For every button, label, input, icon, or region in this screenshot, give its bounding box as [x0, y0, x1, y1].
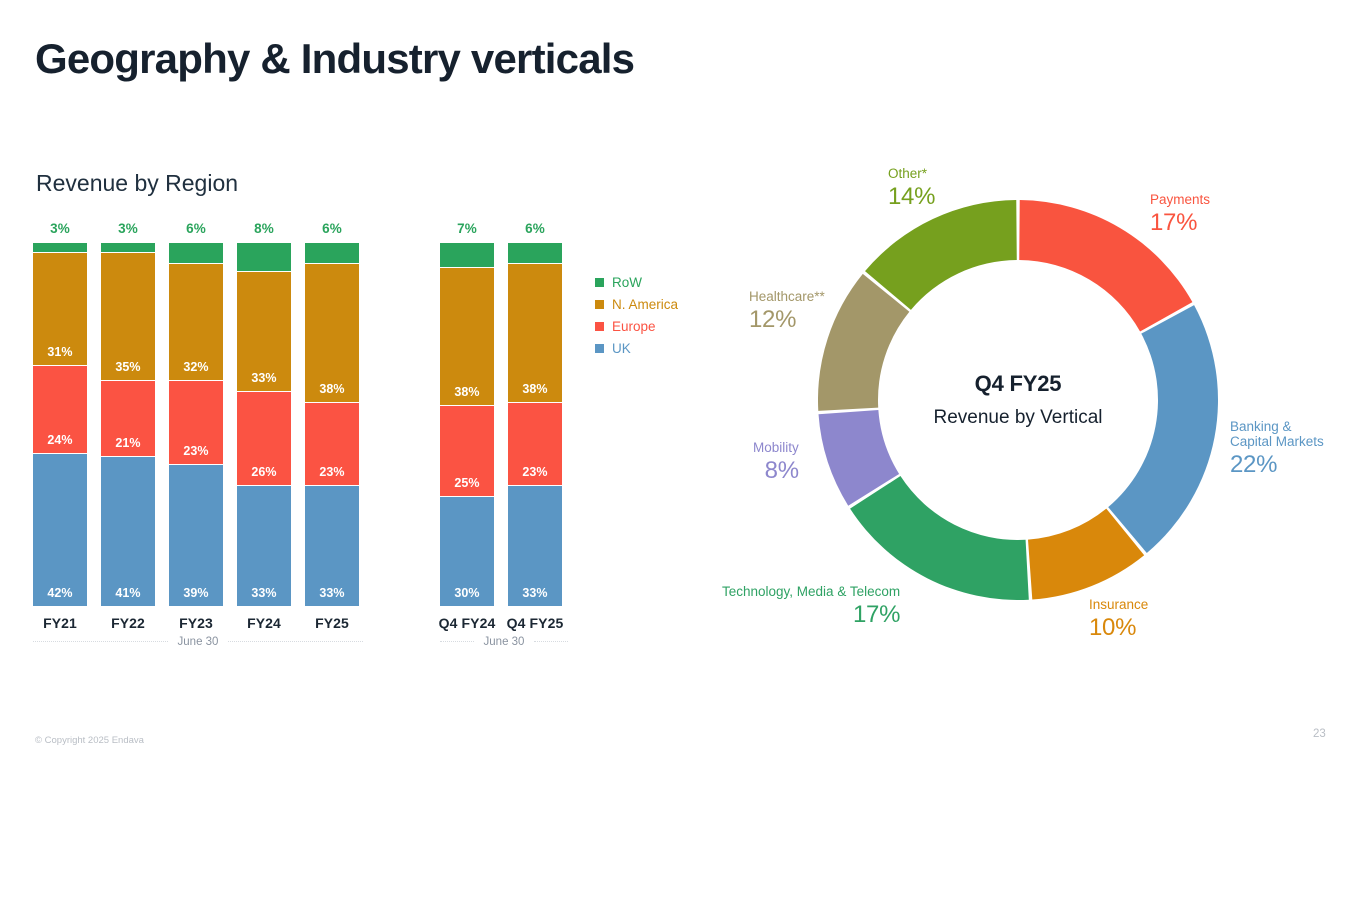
donut-center-title: Q4 FY25 — [888, 371, 1148, 397]
bar-segment-europe: 26% — [237, 392, 291, 487]
bar-segment-row: 6% — [508, 243, 562, 265]
axis-note-quarter: June 30 — [440, 636, 568, 648]
donut-label-insurance: Insurance10% — [1089, 598, 1148, 641]
bar-top-label: 6% — [322, 222, 342, 236]
bar-chart-title: Revenue by Region — [36, 170, 238, 197]
donut-label-name: Payments — [1150, 193, 1210, 208]
bar-group-annual: 3%3%31%24%42%FY213%3%35%21%41%FY226%6%32… — [33, 222, 359, 631]
bar-segment-label: 23% — [319, 465, 344, 485]
donut-slice-technology-media-telecom[interactable] — [850, 476, 1029, 600]
bar-segment-row: 6% — [305, 243, 359, 265]
bar-column: 3%3%35%21%41%FY22 — [101, 222, 155, 631]
bar-top-label: 7% — [457, 222, 477, 236]
legend-swatch-icon — [595, 278, 604, 287]
legend-item-n-america[interactable]: N. America — [595, 293, 678, 315]
donut-label-name-line: Capital Markets — [1230, 435, 1324, 450]
legend-swatch-icon — [595, 344, 604, 353]
bar-segment-row: 3% — [33, 243, 87, 254]
bar-segment-row: 3% — [101, 243, 155, 254]
donut-label-mobility: Mobility8% — [753, 441, 799, 484]
bar-segment-label: 24% — [47, 433, 72, 453]
donut-label-name-line: Banking & — [1230, 420, 1324, 435]
legend-item-europe[interactable]: Europe — [595, 315, 678, 337]
bar-stack: 6%32%23%39% — [169, 243, 223, 607]
bar-x-label: Q4 FY25 — [507, 615, 564, 631]
bar-segment-europe: 21% — [101, 381, 155, 457]
bar-stack: 8%33%26%33% — [237, 243, 291, 607]
bar-segment-europe: 25% — [440, 406, 494, 497]
legend-item-label: UK — [612, 341, 631, 356]
bar-segment-n-america: 38% — [305, 264, 359, 402]
donut-label-other: Other*14% — [888, 167, 935, 210]
bar-segment-label: 38% — [319, 382, 344, 402]
bar-segment-europe: 23% — [508, 403, 562, 487]
donut-label-healthcare: Healthcare**12% — [749, 290, 825, 333]
legend-swatch-icon — [595, 300, 604, 309]
axis-note-annual-label: June 30 — [168, 636, 229, 648]
bar-top-label: 8% — [254, 222, 274, 236]
revenue-by-vertical-chart: Q4 FY25 Revenue by Vertical Payments17%B… — [700, 0, 1365, 768]
donut-label-value: 17% — [1150, 210, 1210, 236]
page-number: 23 — [1313, 728, 1326, 740]
bar-segment-uk: 39% — [169, 465, 223, 607]
dotted-rule-left — [33, 641, 168, 643]
bar-segment-n-america: 35% — [101, 253, 155, 380]
bar-segment-europe: 24% — [33, 366, 87, 453]
dotted-rule-right — [228, 641, 363, 643]
donut-label-value: 8% — [753, 458, 799, 484]
bar-segment-label: 38% — [454, 385, 479, 405]
bar-x-label: Q4 FY24 — [439, 615, 496, 631]
bar-column: 7%7%38%25%30%Q4 FY24 — [440, 222, 494, 631]
bar-segment-label: 39% — [183, 586, 208, 606]
legend-item-uk[interactable]: UK — [595, 337, 678, 359]
donut-label-name: Technology, Media & Telecom — [722, 585, 900, 600]
bar-segment-uk: 41% — [101, 457, 155, 606]
bar-segment-uk: 33% — [237, 486, 291, 606]
bar-column: 3%3%31%24%42%FY21 — [33, 222, 87, 631]
bar-segment-europe: 23% — [305, 403, 359, 487]
donut-label-payments: Payments17% — [1150, 193, 1210, 236]
bar-x-label: FY25 — [315, 615, 349, 631]
bar-column: 8%8%33%26%33%FY24 — [237, 222, 291, 631]
bar-segment-label: 33% — [251, 586, 276, 606]
bar-segment-uk: 42% — [33, 454, 87, 607]
bar-segment-label: 42% — [47, 586, 72, 606]
bar-segment-n-america: 38% — [508, 264, 562, 402]
bar-segment-n-america: 31% — [33, 253, 87, 366]
axis-note-annual: June 30 — [33, 636, 363, 648]
bar-stack: 3%31%24%42% — [33, 243, 87, 607]
bar-segment-label: 33% — [319, 586, 344, 606]
donut-slice-other[interactable] — [865, 200, 1017, 310]
bar-x-label: FY21 — [43, 615, 77, 631]
bar-segment-row: 6% — [169, 243, 223, 265]
bar-x-label: FY23 — [179, 615, 213, 631]
bar-segment-n-america: 33% — [237, 272, 291, 392]
bar-stack: 6%38%23%33% — [508, 243, 562, 607]
bar-segment-label: 30% — [454, 586, 479, 606]
bar-stack: 7%38%25%30% — [440, 243, 494, 607]
bar-segment-label: 23% — [522, 465, 547, 485]
legend-item-label: N. America — [612, 297, 678, 312]
bar-segment-label: 35% — [115, 360, 140, 380]
bar-segment-label: 33% — [251, 371, 276, 391]
bar-segment-label: 38% — [522, 382, 547, 402]
bar-stack: 3%35%21%41% — [101, 243, 155, 607]
bar-segment-europe: 23% — [169, 381, 223, 465]
bar-top-label: 3% — [50, 222, 70, 236]
bar-segment-label: 25% — [454, 476, 479, 496]
bar-x-label: FY22 — [111, 615, 145, 631]
bar-segment-row: 7% — [440, 243, 494, 268]
donut-slice-banking-capital-markets[interactable] — [1108, 305, 1218, 553]
bar-column: 6%6%32%23%39%FY23 — [169, 222, 223, 631]
bar-segment-uk: 30% — [440, 497, 494, 606]
bar-segment-label: 32% — [183, 360, 208, 380]
donut-label-name: Insurance — [1089, 598, 1148, 613]
dotted-rule-left — [440, 641, 474, 643]
bar-segment-label: 33% — [522, 586, 547, 606]
bar-segment-n-america: 38% — [440, 268, 494, 406]
bar-segment-label: 21% — [115, 436, 140, 456]
bar-segment-label: 26% — [251, 465, 276, 485]
bar-column: 6%6%38%23%33%FY25 — [305, 222, 359, 631]
bar-segment-label: 41% — [115, 586, 140, 606]
bar-x-label: FY24 — [247, 615, 281, 631]
donut-label-name: Other* — [888, 167, 935, 182]
donut-center-text: Q4 FY25 Revenue by Vertical — [888, 371, 1148, 429]
bar-column: 6%6%38%23%33%Q4 FY25 — [508, 222, 562, 631]
bar-stack: 6%38%23%33% — [305, 243, 359, 607]
bar-segment-uk: 33% — [305, 486, 359, 606]
axis-note-quarter-label: June 30 — [474, 636, 535, 648]
donut-label-name: Mobility — [753, 441, 799, 456]
donut-label-banking-capital-markets: Banking &Capital Markets22% — [1230, 420, 1324, 478]
donut-label-technology-media-telecom: Technology, Media & Telecom17% — [722, 585, 900, 628]
bar-segment-label: 23% — [183, 444, 208, 464]
bar-segment-row: 8% — [237, 243, 291, 272]
bar-top-label: 3% — [118, 222, 138, 236]
donut-label-value: 12% — [749, 307, 825, 333]
bar-segment-uk: 33% — [508, 486, 562, 606]
bar-segment-n-america: 32% — [169, 264, 223, 380]
bar-top-label: 6% — [186, 222, 206, 236]
bar-top-label: 6% — [525, 222, 545, 236]
dotted-rule-right — [534, 641, 568, 643]
bar-chart-legend: RoWN. AmericaEuropeUK — [595, 271, 678, 359]
legend-item-label: RoW — [612, 275, 642, 290]
legend-swatch-icon — [595, 322, 604, 331]
bar-segment-label: 31% — [47, 345, 72, 365]
donut-label-name: Healthcare** — [749, 290, 825, 305]
legend-item-row[interactable]: RoW — [595, 271, 678, 293]
legend-item-label: Europe — [612, 319, 656, 334]
copyright-notice: © Copyright 2025 Endava — [35, 735, 144, 746]
bar-group-quarter: 7%7%38%25%30%Q4 FY246%6%38%23%33%Q4 FY25 — [440, 222, 562, 631]
donut-center-subtitle: Revenue by Vertical — [888, 407, 1148, 429]
revenue-by-region-chart: Revenue by Region 3%3%31%24%42%FY213%3%3… — [0, 0, 700, 768]
donut-label-value: 14% — [888, 184, 935, 210]
donut-label-name: Banking &Capital Markets — [1230, 420, 1324, 450]
donut-label-value: 10% — [1089, 615, 1148, 641]
donut-label-value: 17% — [722, 602, 900, 628]
donut-label-value: 22% — [1230, 452, 1324, 478]
